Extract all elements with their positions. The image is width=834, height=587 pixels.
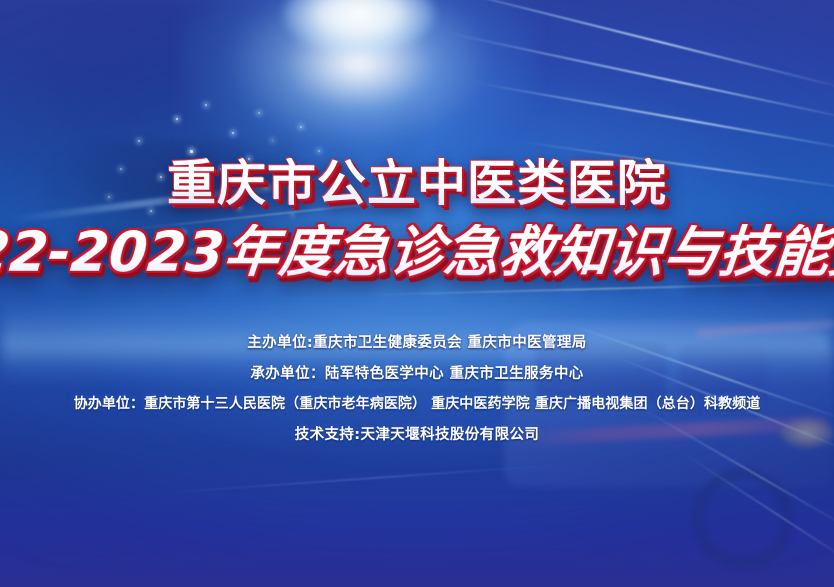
credit-technical-support: 技术支持:天津天堰科技股份有限公司 xyxy=(295,423,540,444)
poster-canvas: 重庆市公立中医类医院 2022-2023年度急诊急救知识与技能竞赛 主办单位:重… xyxy=(0,0,834,587)
credit-organizer: 主办单位:重庆市卫生健康委员会 重庆市中医管理局 xyxy=(247,331,586,352)
poster-content: 重庆市公立中医类医院 2022-2023年度急诊急救知识与技能竞赛 主办单位:重… xyxy=(0,0,834,587)
poster-title-sub: 2022-2023年度急诊急救知识与技能竞赛 xyxy=(0,224,834,281)
credit-co-organizer: 协办单位：重庆市第十三人民医院（重庆市老年病医院） 重庆中医药学院 重庆广播电视… xyxy=(74,393,761,413)
poster-title-main: 重庆市公立中医类医院 xyxy=(167,158,667,210)
credit-host: 承办单位：陆军特色医学中心 重庆市卫生服务中心 xyxy=(250,362,583,383)
poster-credits: 主办单位:重庆市卫生健康委员会 重庆市中医管理局 承办单位：陆军特色医学中心 重… xyxy=(74,331,761,444)
